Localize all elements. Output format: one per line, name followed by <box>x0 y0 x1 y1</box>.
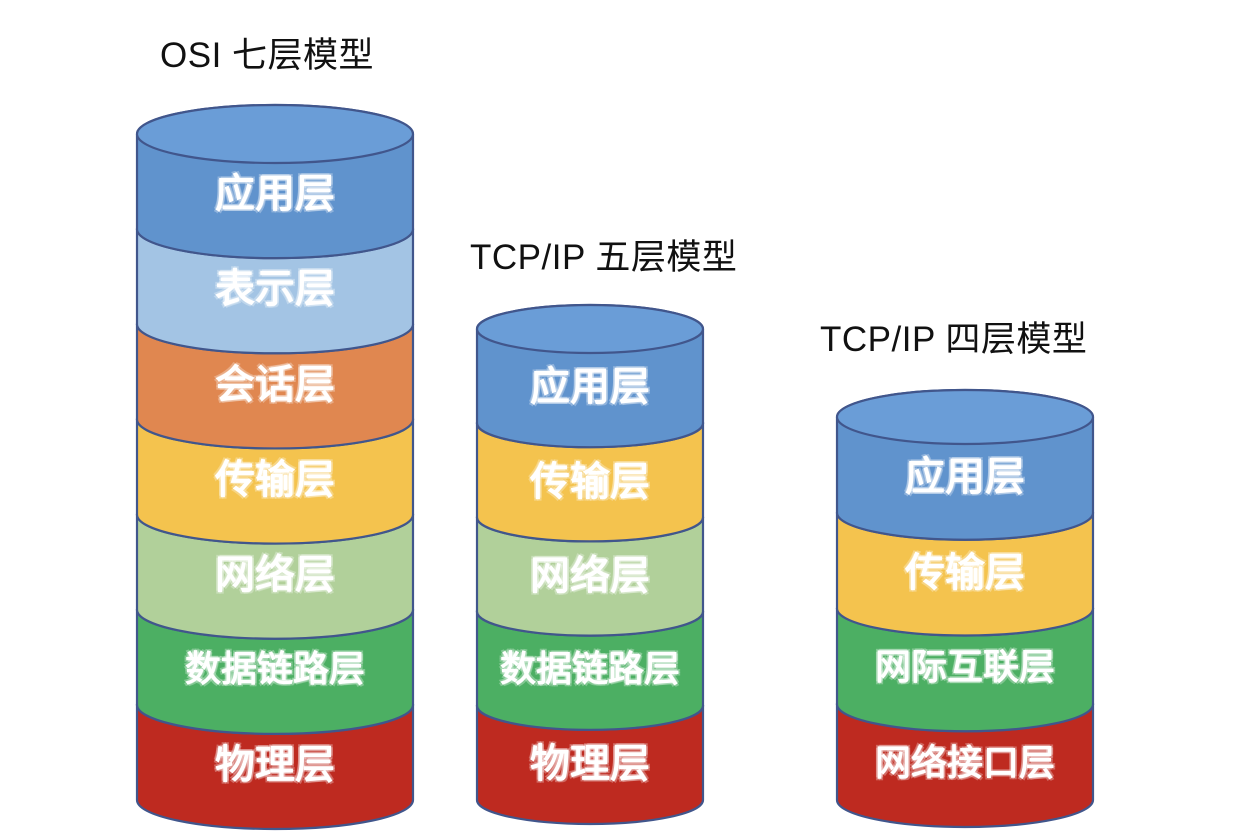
layer-disc[interactable] <box>137 105 413 258</box>
diagram-canvas: OSI 七层模型应用层表示层会话层传输层网络层数据链路层物理层TCP/IP 五层… <box>0 0 1244 836</box>
layer-disc[interactable] <box>837 390 1093 540</box>
stack-title-osi: OSI 七层模型 <box>160 38 374 73</box>
layer-disc[interactable] <box>477 305 703 447</box>
layer-stack-osi: 应用层表示层会话层传输层网络层数据链路层物理层 <box>135 105 415 800</box>
stack-title-tcpip-4: TCP/IP 四层模型 <box>820 322 1087 357</box>
stack-title-tcpip-5: TCP/IP 五层模型 <box>470 240 737 275</box>
layer-stack-tcpip-4: 应用层传输层网际互联层网络接口层 <box>835 390 1095 800</box>
layer-stack-tcpip-5: 应用层传输层网络层数据链路层物理层 <box>475 305 705 800</box>
